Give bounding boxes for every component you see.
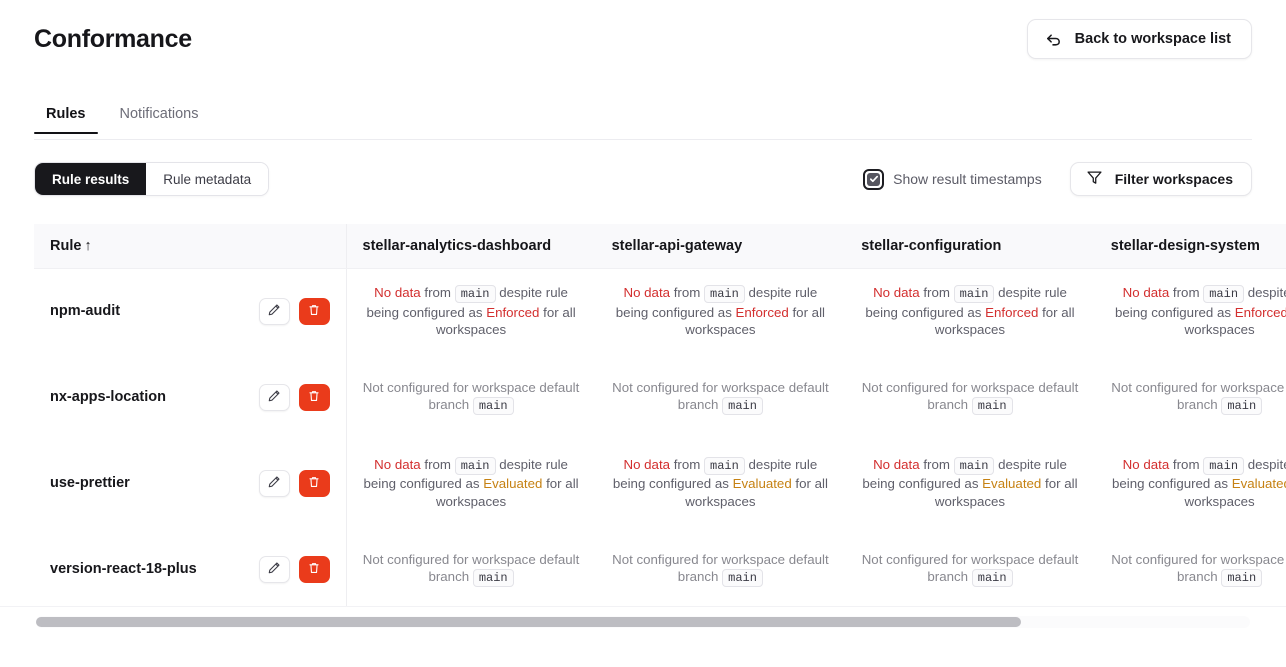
no-data-label: No data (374, 285, 421, 300)
checkbox-label: Show result timestamps (893, 171, 1042, 187)
column-header-rule[interactable]: Rule↑ (34, 224, 346, 268)
column-header-workspace-0[interactable]: stellar-analytics-dashboard (346, 224, 596, 268)
no-data-label: No data (1123, 457, 1170, 472)
rule-name: npm-audit (50, 303, 120, 319)
branch-chip: main (1203, 285, 1244, 303)
filter-workspaces-button[interactable]: Filter workspaces (1070, 162, 1252, 196)
edit-rule-button[interactable] (259, 384, 290, 411)
trash-icon (307, 389, 321, 406)
segment-rule-metadata[interactable]: Rule metadata (146, 163, 268, 195)
no-data-label: No data (623, 285, 670, 300)
back-to-workspace-list-button[interactable]: Back to workspace list (1027, 19, 1252, 59)
branch-chip: main (954, 457, 995, 475)
show-result-timestamps-checkbox[interactable]: Show result timestamps (863, 169, 1042, 190)
branch-chip: main (473, 397, 514, 415)
rule-name: version-react-18-plus (50, 561, 197, 577)
no-data-label: No data (1123, 285, 1170, 300)
pencil-icon (267, 303, 281, 320)
delete-rule-button[interactable] (299, 298, 330, 325)
table-row: npm-auditNo data from main despite rule … (34, 268, 1286, 354)
cell-rule-name: npm-audit (34, 268, 346, 354)
delete-rule-button[interactable] (299, 470, 330, 497)
rule-actions (259, 384, 330, 411)
pencil-icon (267, 561, 281, 578)
table-row: nx-apps-locationNot configured for works… (34, 354, 1286, 440)
status-label: Enforced (486, 305, 539, 320)
branch-chip: main (954, 285, 995, 303)
back-button-label: Back to workspace list (1075, 31, 1231, 47)
sort-ascending-icon: ↑ (84, 238, 91, 254)
delete-rule-button[interactable] (299, 384, 330, 411)
table-row: use-prettierNo data from main despite ru… (34, 440, 1286, 526)
cell-rule-name: version-react-18-plus (34, 526, 346, 606)
branch-chip: main (1221, 569, 1262, 587)
status-label: Evaluated (1232, 476, 1286, 491)
cell-result: No data from main despite rule being con… (346, 440, 596, 526)
branch-chip: main (1203, 457, 1244, 475)
cell-result: No data from main despite rule being con… (596, 440, 846, 526)
table-bottom-divider (0, 606, 1286, 607)
cell-result: Not configured for workspace default bra… (346, 354, 596, 440)
no-data-label: No data (873, 285, 920, 300)
branch-chip: main (473, 569, 514, 587)
branch-chip: main (455, 457, 496, 475)
page-header: Conformance Back to workspace list (0, 0, 1286, 78)
toolbar-right-group: Show result timestamps Filter workspaces (863, 162, 1252, 196)
rule-name: use-prettier (50, 475, 130, 491)
branch-chip: main (704, 285, 745, 303)
cell-result: No data from main despite rule being con… (845, 440, 1095, 526)
cell-result: No data from main despite rule being con… (845, 268, 1095, 354)
edit-rule-button[interactable] (259, 556, 290, 583)
cell-result: Not configured for workspace default bra… (596, 354, 846, 440)
column-header-workspace-3[interactable]: stellar-design-system (1095, 224, 1286, 268)
edit-rule-button[interactable] (259, 470, 290, 497)
segment-rule-results[interactable]: Rule results (35, 163, 146, 195)
branch-chip: main (704, 457, 745, 475)
funnel-icon (1086, 169, 1103, 189)
filter-button-label: Filter workspaces (1115, 171, 1233, 187)
rules-table: Rule↑ stellar-analytics-dashboard stella… (34, 224, 1286, 606)
tab-notifications[interactable]: Notifications (108, 106, 211, 133)
table-body: npm-auditNo data from main despite rule … (34, 268, 1286, 606)
branch-chip: main (972, 397, 1013, 415)
horizontal-scrollbar-track[interactable] (36, 616, 1250, 628)
rules-table-scroll-container[interactable]: Rule↑ stellar-analytics-dashboard stella… (34, 224, 1286, 606)
cell-result: Not configured for workspace default bra… (596, 526, 846, 606)
no-data-label: No data (374, 457, 421, 472)
horizontal-scrollbar-thumb[interactable] (36, 617, 1021, 627)
cell-result: No data from main despite rule being con… (596, 268, 846, 354)
cell-result: No data from main despite rule being con… (1095, 268, 1286, 354)
trash-icon (307, 303, 321, 320)
no-data-label: No data (623, 457, 670, 472)
column-header-workspace-1[interactable]: stellar-api-gateway (596, 224, 846, 268)
table-toolbar: Rule results Rule metadata Show result t… (34, 162, 1252, 196)
column-header-workspace-2[interactable]: stellar-configuration (845, 224, 1095, 268)
status-label: Enforced (736, 305, 789, 320)
cell-result: Not configured for workspace default bra… (346, 526, 596, 606)
trash-icon (307, 561, 321, 578)
checkbox-focus-ring (863, 169, 884, 190)
rule-actions (259, 556, 330, 583)
branch-chip: main (455, 285, 496, 303)
cell-result: Not configured for workspace default bra… (1095, 354, 1286, 440)
pencil-icon (267, 389, 281, 406)
status-label: Evaluated (982, 476, 1041, 491)
table-header-row: Rule↑ stellar-analytics-dashboard stella… (34, 224, 1286, 268)
table-row: version-react-18-plusNot configured for … (34, 526, 1286, 606)
branch-chip: main (722, 397, 763, 415)
page-title: Conformance (34, 25, 192, 54)
cell-result: Not configured for workspace default bra… (845, 354, 1095, 440)
branch-chip: main (1221, 397, 1262, 415)
cell-result: Not configured for workspace default bra… (1095, 526, 1286, 606)
trash-icon (307, 475, 321, 492)
cell-result: No data from main despite rule being con… (346, 268, 596, 354)
rule-actions (259, 298, 330, 325)
cell-rule-name: nx-apps-location (34, 354, 346, 440)
check-icon (869, 174, 879, 184)
pencil-icon (267, 475, 281, 492)
view-mode-segmented-control: Rule results Rule metadata (34, 162, 269, 196)
no-data-label: No data (873, 457, 920, 472)
rule-actions (259, 470, 330, 497)
column-header-rule-label: Rule (50, 238, 81, 254)
cell-result: Not configured for workspace default bra… (845, 526, 1095, 606)
cell-result: No data from main despite rule being con… (1095, 440, 1286, 526)
branch-chip: main (972, 569, 1013, 587)
status-label: Enforced (1235, 305, 1286, 320)
rule-name: nx-apps-location (50, 389, 166, 405)
tab-rules[interactable]: Rules (34, 106, 98, 133)
table-header: Rule↑ stellar-analytics-dashboard stella… (34, 224, 1286, 268)
branch-chip: main (722, 569, 763, 587)
edit-rule-button[interactable] (259, 298, 290, 325)
status-label: Evaluated (733, 476, 792, 491)
status-label: Enforced (985, 305, 1038, 320)
back-arrow-icon (1044, 30, 1063, 49)
cell-rule-name: use-prettier (34, 440, 346, 526)
main-tabs: Rules Notifications (34, 106, 1252, 140)
delete-rule-button[interactable] (299, 556, 330, 583)
status-label: Evaluated (483, 476, 542, 491)
conformance-page: Conformance Back to workspace list Rules… (0, 0, 1286, 667)
checkbox-box-checked (867, 173, 880, 186)
